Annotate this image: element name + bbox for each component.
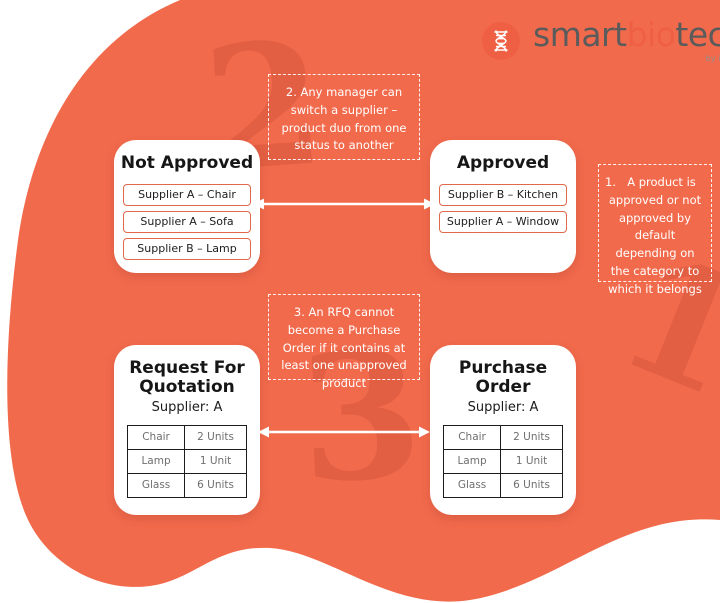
card-rfq-title: Request For Quotation [114,345,260,397]
table-cell-product: Chair [128,426,185,450]
annotation-note-1-text: A product is approved or not approved by… [608,175,702,296]
list-item[interactable]: Supplier B – Kitchen [439,184,567,206]
table-cell-product: Chair [444,426,501,450]
table-row[interactable]: Glass 6 Units [128,474,247,498]
card-approved-list: Supplier B – Kitchen Supplier A – Window [439,184,567,233]
double-headed-arrow-status [253,196,435,212]
card-rfq-table: Chair 2 Units Lamp 1 Unit Glass 6 Units [127,425,247,498]
card-purchase-order[interactable]: Purchase Order Supplier: A Chair 2 Units… [430,345,576,515]
table-cell-quantity: 1 Unit [185,450,247,474]
card-po-title: Purchase Order [430,345,576,397]
logo-text-bio: bio [627,15,676,54]
card-not-approved-title: Not Approved [114,140,260,173]
card-request-for-quotation[interactable]: Request For Quotation Supplier: A Chair … [114,345,260,515]
table-cell-quantity: 2 Units [185,426,247,450]
logo-wordmark: smartbiotech by idealis [533,18,720,63]
table-cell-product: Lamp [128,450,185,474]
table-row[interactable]: Chair 2 Units [444,426,563,450]
card-po-subtitle: Supplier: A [430,400,576,415]
card-po-table: Chair 2 Units Lamp 1 Unit Glass 6 Units [443,425,563,498]
table-cell-quantity: 6 Units [501,474,563,498]
card-approved[interactable]: Approved Supplier B – Kitchen Supplier A… [430,140,576,273]
annotation-note-2: 2. Any manager can switch a supplier – p… [268,74,420,160]
table-row[interactable]: Glass 6 Units [444,474,563,498]
card-approved-title: Approved [430,140,576,173]
annotation-note-1: 1.A product is approved or not approved … [598,164,712,282]
annotation-note-2-text: 2. Any manager can switch a supplier – p… [282,85,407,152]
table-cell-quantity: 1 Unit [501,450,563,474]
list-item[interactable]: Supplier B – Lamp [123,238,251,260]
table-cell-product: Glass [128,474,185,498]
diagram-canvas: 2 1 3 smartbiotech by idea [0,0,720,603]
card-not-approved[interactable]: Not Approved Supplier A – Chair Supplier… [114,140,260,273]
card-rfq-subtitle: Supplier: A [114,400,260,415]
table-cell-quantity: 2 Units [501,426,563,450]
annotation-note-1-number: 1. [605,174,616,192]
logo-text-smart: smart [533,15,627,54]
logo-byline: by idealis [706,54,720,63]
table-row[interactable]: Lamp 1 Unit [128,450,247,474]
table-cell-product: Glass [444,474,501,498]
table-cell-quantity: 6 Units [185,474,247,498]
annotation-note-3-text: 3. An RFQ cannot become a Purchase Order… [281,305,406,390]
list-item[interactable]: Supplier A – Window [439,211,567,233]
table-cell-product: Lamp [444,450,501,474]
table-row[interactable]: Chair 2 Units [128,426,247,450]
card-not-approved-list: Supplier A – Chair Supplier A – Sofa Sup… [123,184,251,260]
list-item[interactable]: Supplier A – Chair [123,184,251,206]
annotation-note-3: 3. An RFQ cannot become a Purchase Order… [268,294,420,380]
logo-text-tech: tech [675,15,720,54]
dna-helix-icon [482,22,520,60]
table-row[interactable]: Lamp 1 Unit [444,450,563,474]
double-headed-arrow-orders [258,424,430,440]
brand-logo: smartbiotech by idealis [482,18,720,63]
list-item[interactable]: Supplier A – Sofa [123,211,251,233]
